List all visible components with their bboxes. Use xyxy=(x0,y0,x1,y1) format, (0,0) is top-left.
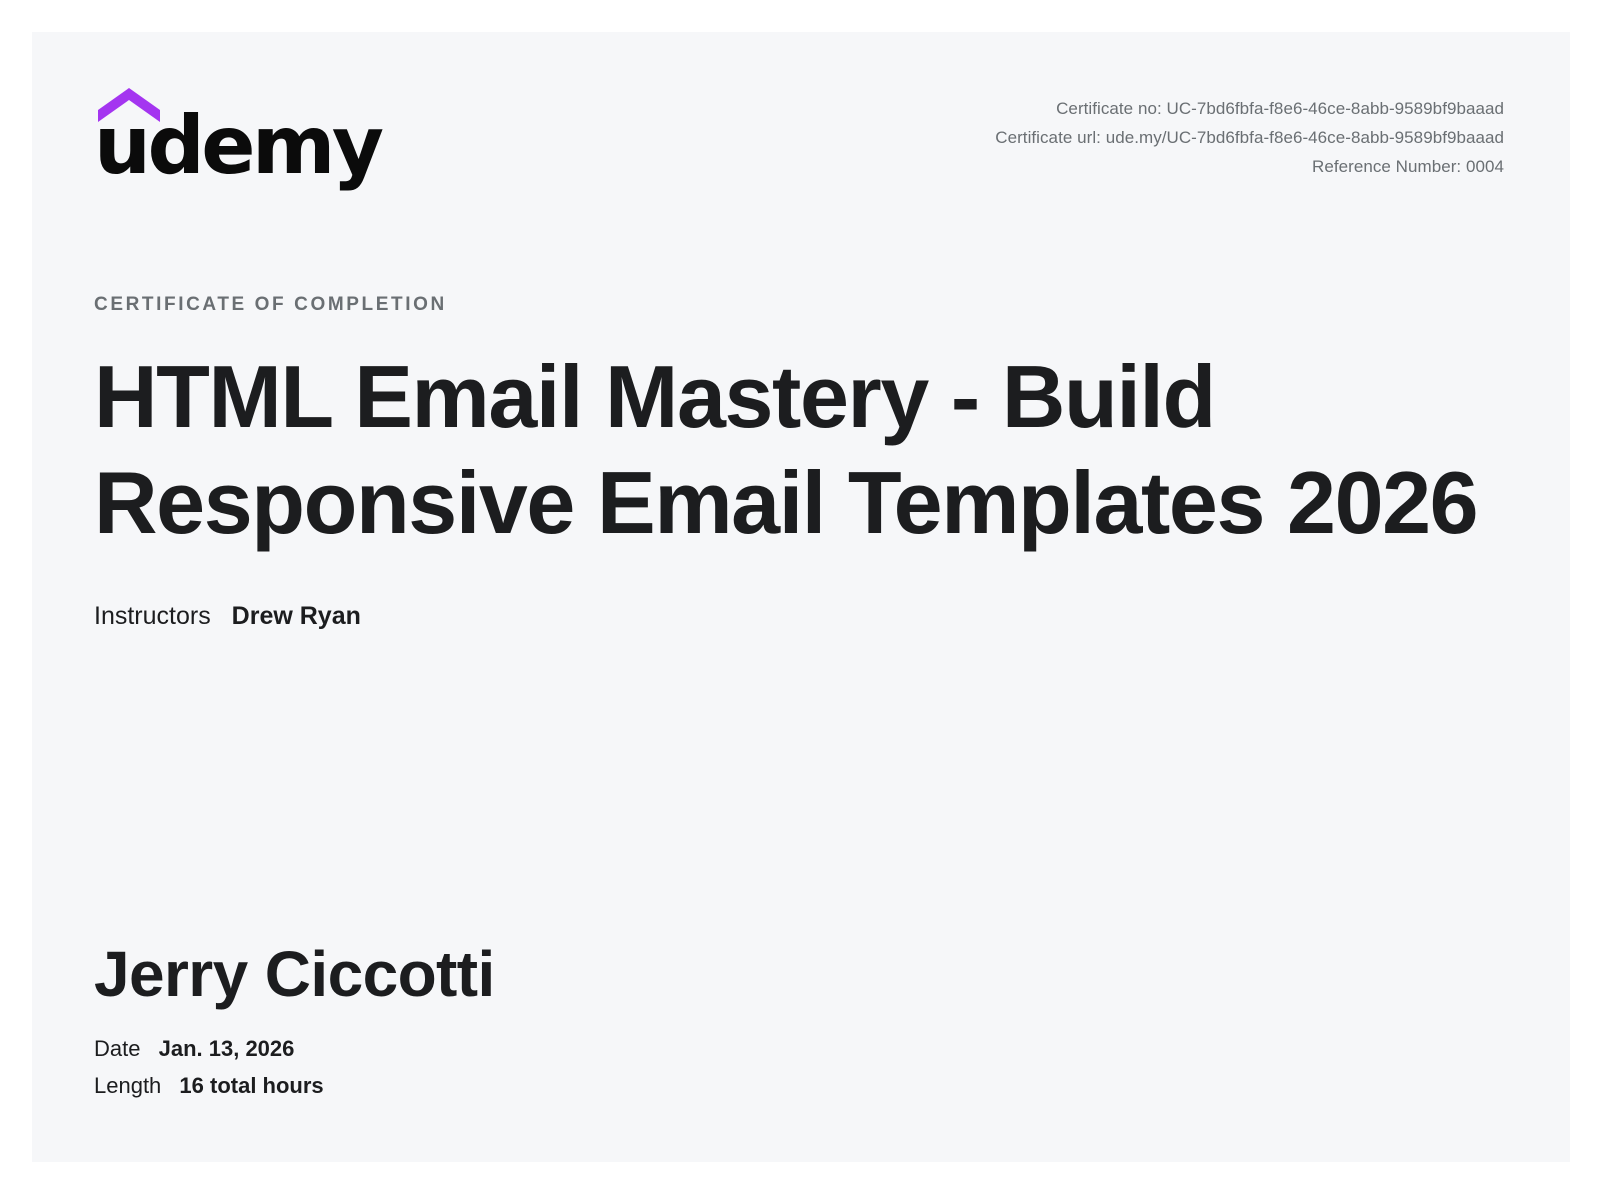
certificate-header: udemy Certificate no: UC-7bd6fbfa-f8e6-4… xyxy=(32,32,1570,182)
date-label: Date xyxy=(94,1036,140,1061)
length-row: Length 16 total hours xyxy=(94,1067,495,1104)
recipient-name: Jerry Ciccotti xyxy=(94,938,495,1012)
certificate-meta: Certificate no: UC-7bd6fbfa-f8e6-46ce-8a… xyxy=(995,94,1504,181)
instructors-label: Instructors xyxy=(94,602,211,630)
length-label: Length xyxy=(94,1073,161,1098)
instructors-value: Drew Ryan xyxy=(232,602,361,630)
certificate-number: Certificate no: UC-7bd6fbfa-f8e6-46ce-8a… xyxy=(995,94,1504,123)
date-value: Jan. 13, 2026 xyxy=(159,1036,295,1061)
certificate-url[interactable]: Certificate url: ude.my/UC-7bd6fbfa-f8e6… xyxy=(995,123,1504,152)
udemy-wordmark: udemy xyxy=(94,106,380,186)
date-row: Date Jan. 13, 2026 xyxy=(94,1030,495,1067)
instructors-row: Instructors Drew Ryan xyxy=(94,599,1508,634)
course-title: HTML Email Mastery - Build Responsive Em… xyxy=(94,344,1494,555)
certificate-eyebrow: CERTIFICATE OF COMPLETION xyxy=(94,294,1508,316)
certificate-card: udemy Certificate no: UC-7bd6fbfa-f8e6-4… xyxy=(32,32,1570,1162)
length-value: 16 total hours xyxy=(179,1073,323,1098)
certificate-body: CERTIFICATE OF COMPLETION HTML Email Mas… xyxy=(94,294,1508,634)
certificate-footer: Jerry Ciccotti Date Jan. 13, 2026 Length… xyxy=(94,938,495,1104)
reference-number: Reference Number: 0004 xyxy=(995,152,1504,181)
udemy-logo: udemy xyxy=(94,88,354,184)
